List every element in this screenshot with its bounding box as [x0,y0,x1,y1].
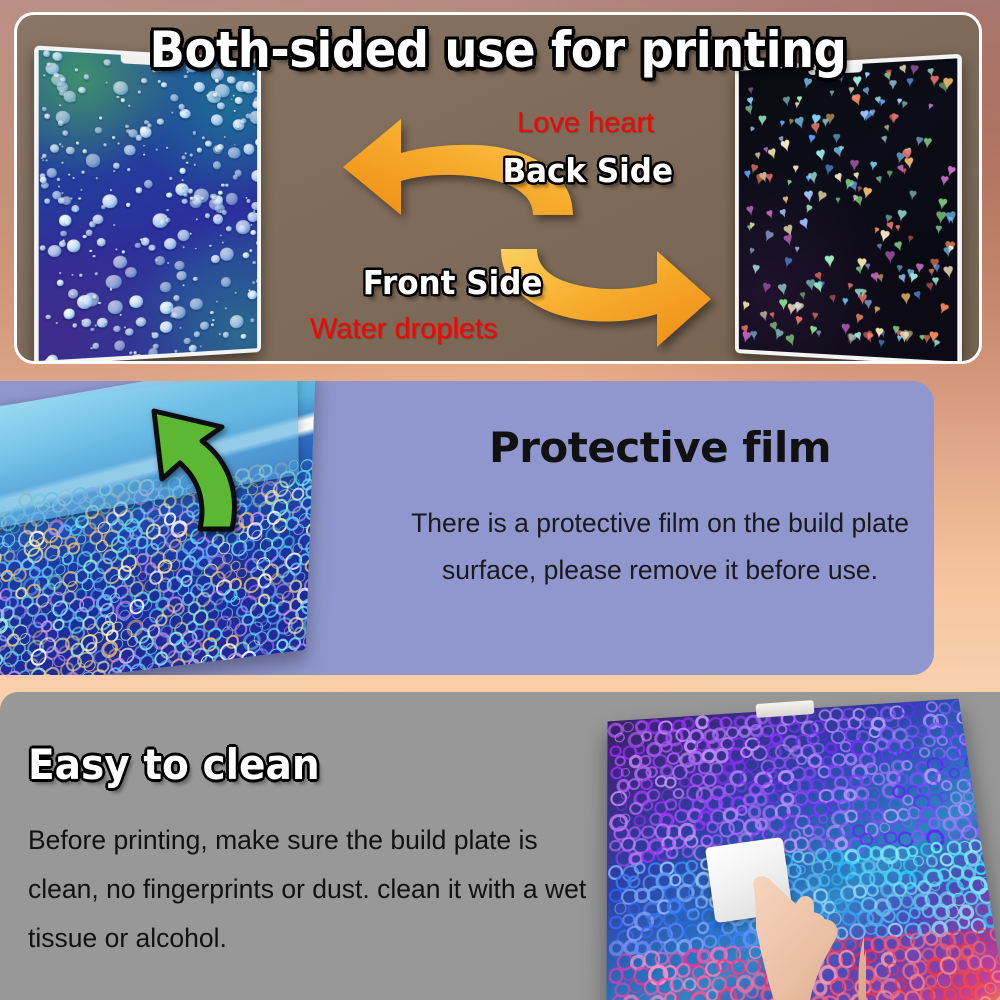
label-back-side: Back Side [502,151,673,190]
infographic-page: Both-sided use for printing [0,0,1000,1000]
easy-to-clean-heading: Easy to clean [28,740,320,789]
build-plate-water-droplets [34,45,261,364]
droplets-layer [39,50,257,361]
label-love-heart: Love heart [517,107,654,140]
hearts-layer [739,58,957,361]
label-front-side: Front Side [363,263,543,302]
panel-easy-to-clean: Easy to clean Before printing, make sure… [0,692,1000,1000]
arrow-peel-up-icon [136,405,256,535]
easy-to-clean-body: Before printing, make sure the build pla… [28,816,588,963]
panel-both-sided-use: Both-sided use for printing [14,12,982,364]
protective-film-body: There is a protective film on the build … [400,500,920,594]
love-heart-texture [739,58,957,361]
protective-film-photo [0,381,386,675]
hand-icon [744,852,868,1000]
label-water-droplets: Water droplets [310,313,498,346]
easy-to-clean-photo [560,694,1000,1000]
panel-protective-film: Protective film There is a protective fi… [0,381,934,675]
protective-film-heading: Protective film [400,423,920,472]
water-droplet-texture [39,50,257,361]
protective-film-text-block: Protective film There is a protective fi… [400,401,920,594]
build-plate-love-heart [735,54,962,364]
page-title: Both-sided use for printing [51,21,946,79]
